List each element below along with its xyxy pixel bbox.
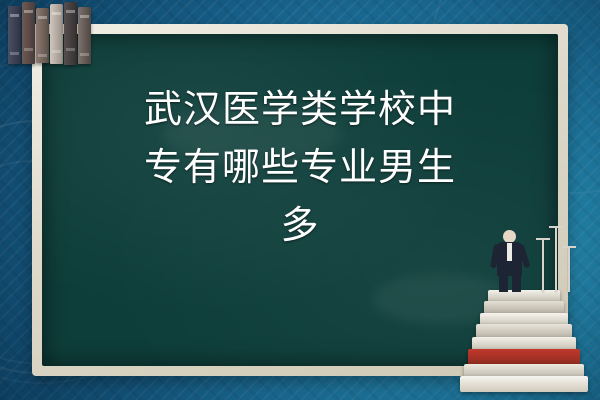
- book-stack-icon: [6, 2, 98, 68]
- poster-canvas: 武汉医学类学校中 专有哪些专业男生 多: [0, 0, 600, 400]
- headline-line-2: 专有哪些专业男生: [60, 138, 540, 196]
- measuring-rod-tip: [549, 226, 563, 228]
- measuring-rod-icon: [568, 246, 570, 292]
- standing-person-icon: [490, 230, 530, 292]
- person-leg-right: [512, 274, 521, 292]
- book-spine: [78, 7, 91, 64]
- paper-stack-illustration: [460, 222, 590, 392]
- measuring-rod-icon: [555, 226, 557, 292]
- book-spine: [64, 2, 77, 65]
- paper-layer-red: [468, 349, 580, 365]
- book-spine: [50, 4, 63, 64]
- paper-layer: [476, 324, 572, 338]
- measuring-rod-tip: [536, 238, 550, 240]
- person-leg-left: [499, 274, 508, 292]
- headline-line-1: 武汉医学类学校中: [60, 80, 540, 138]
- book-spine: [8, 6, 21, 64]
- measuring-rod-tip: [562, 246, 576, 248]
- paper-layer: [460, 376, 588, 392]
- book-spine: [36, 8, 49, 63]
- book-spine: [22, 2, 35, 64]
- measuring-rod-icon: [542, 238, 544, 292]
- person-shirt: [507, 243, 512, 261]
